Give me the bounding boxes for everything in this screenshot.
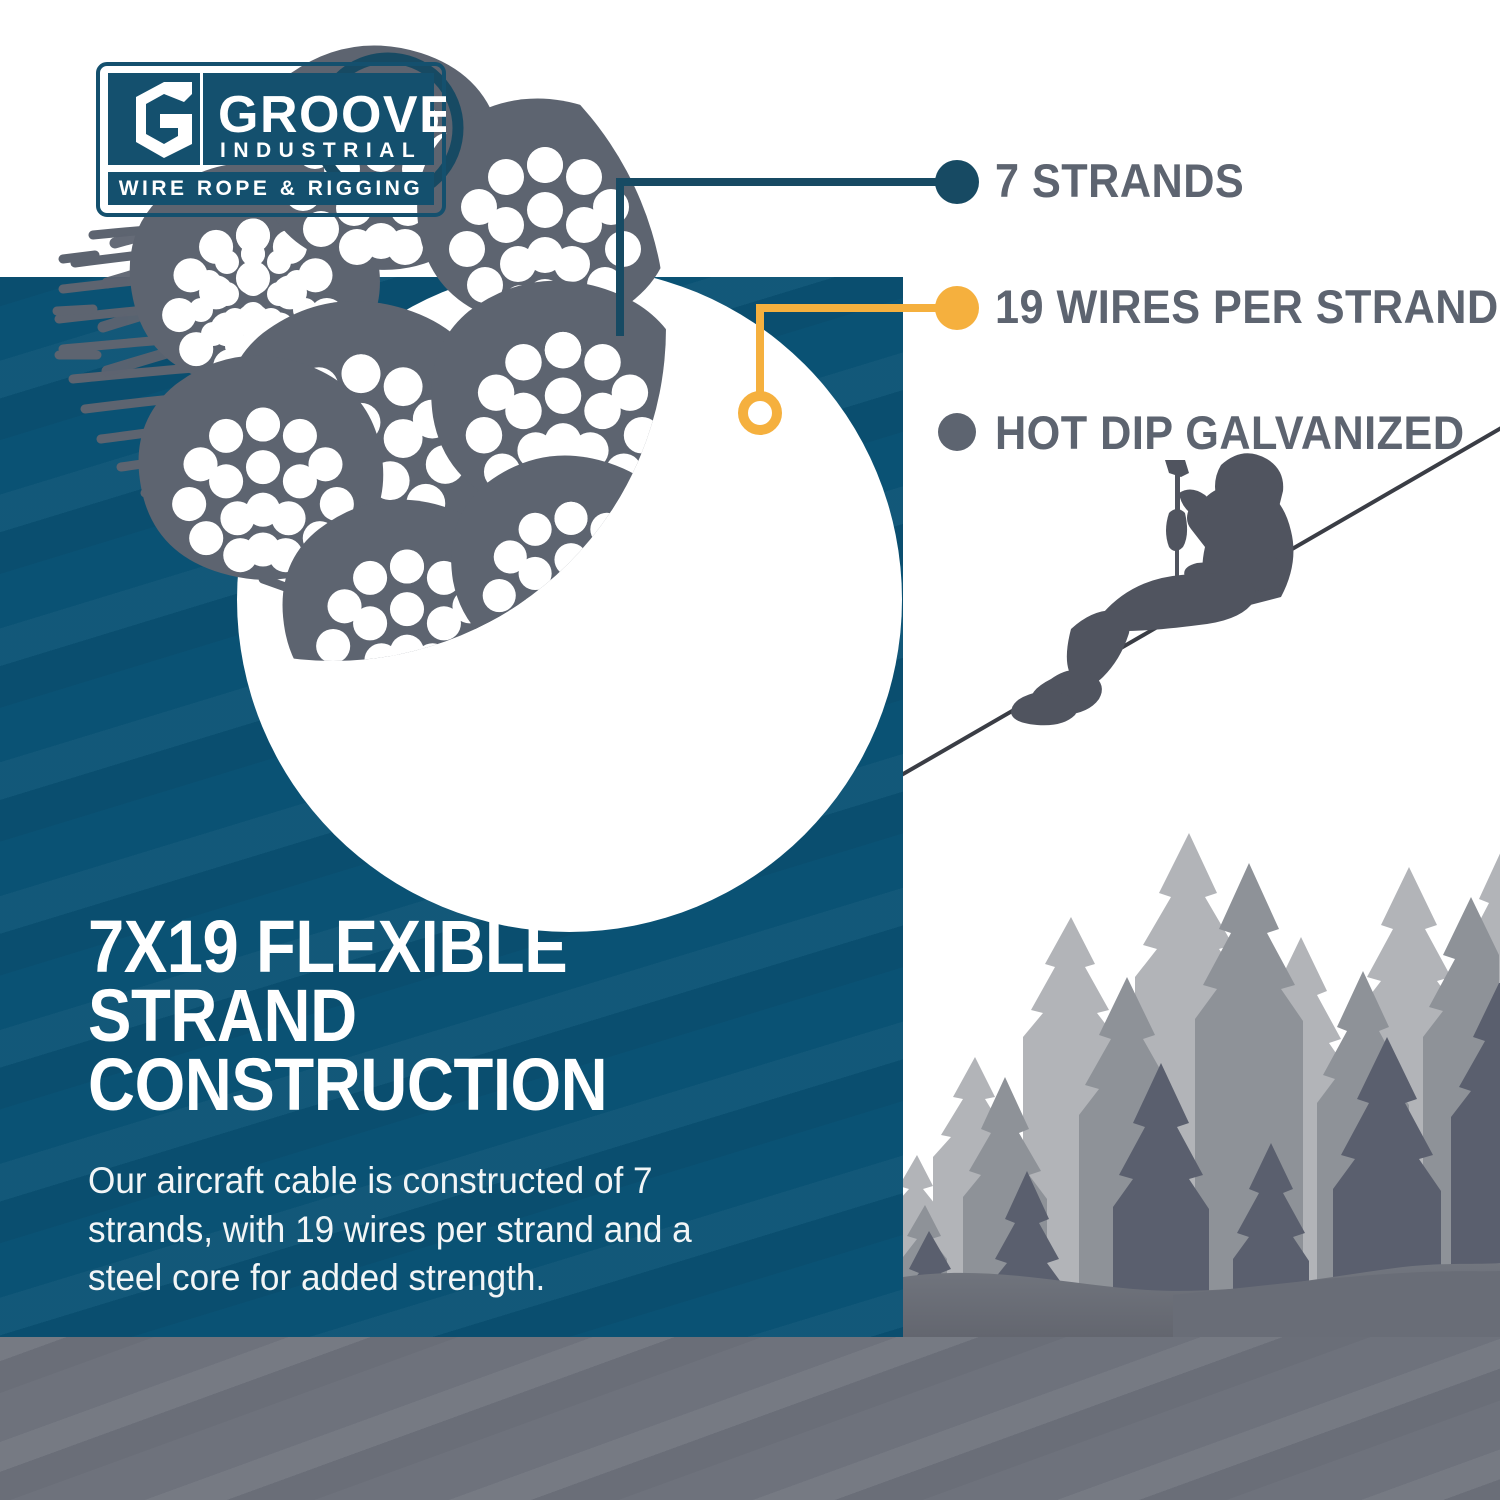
logo-subname: INDUSTRIAL	[220, 139, 422, 162]
logo-monogram-g	[136, 82, 192, 158]
callout-connectors	[0, 0, 1500, 1500]
connector-line-wires	[760, 308, 955, 400]
bullet-wires	[935, 286, 979, 330]
connector-line-strands	[620, 182, 955, 336]
brand-logo[interactable]: GROOVE INDUSTRIAL WIRE ROPE & RIGGING	[96, 62, 446, 217]
infographic-canvas: 7X19 FLEXIBLE STRAND CONSTRUCTION Our ai…	[0, 0, 1500, 1500]
bullet-strands	[935, 160, 979, 204]
logo-wordmark: GROOVE	[218, 86, 446, 144]
bullet-galvanized	[938, 413, 976, 451]
logo-tagline: WIRE ROPE & RIGGING	[119, 177, 424, 200]
wire-marker-ring	[743, 396, 777, 430]
logo-divider	[200, 73, 203, 165]
